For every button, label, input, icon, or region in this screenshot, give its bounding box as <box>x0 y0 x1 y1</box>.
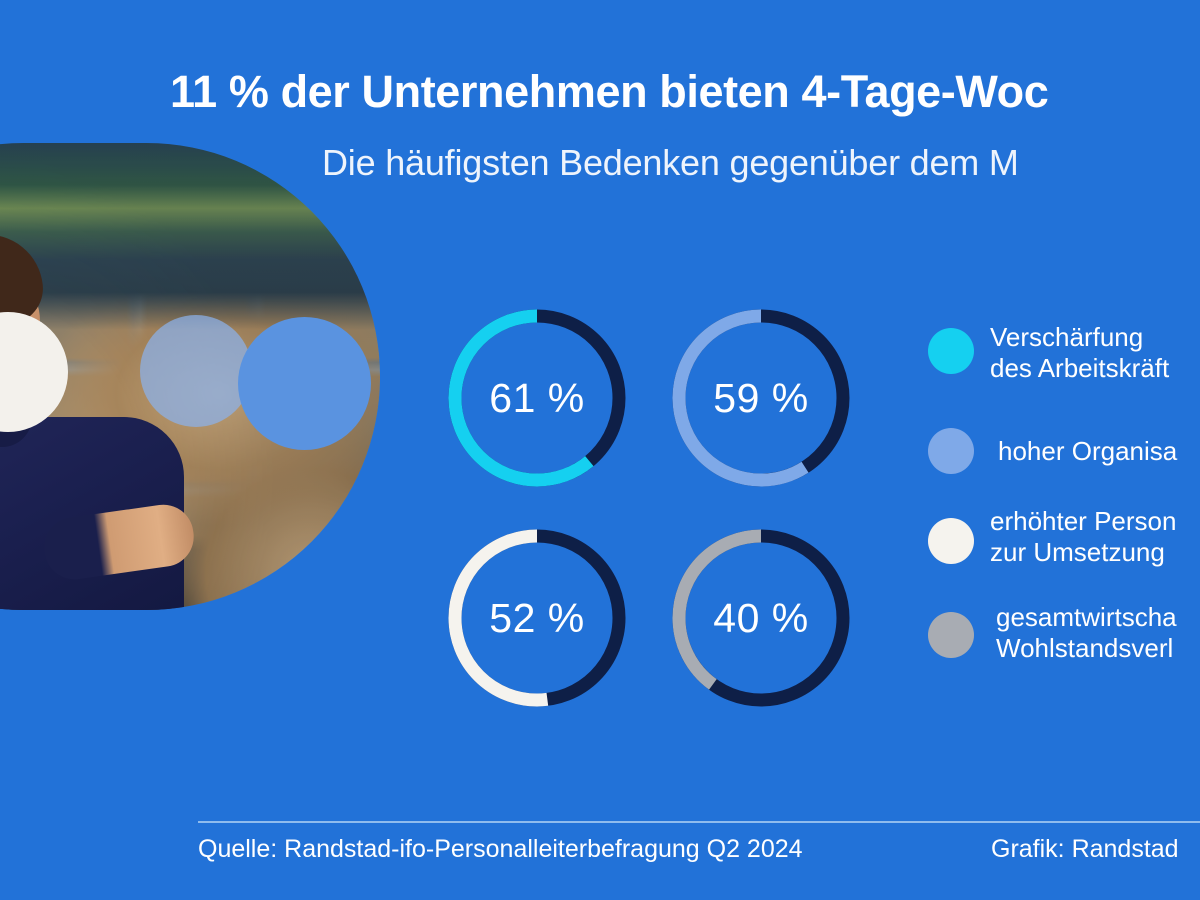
legend-color-dot-icon <box>928 328 974 374</box>
infographic-root: 11 % der Unternehmen bieten 4-Tage-Woc D… <box>0 0 1200 900</box>
footer: Quelle: Randstad-ifo-Personalleiterbefra… <box>198 835 1200 875</box>
donut-chart: 61 % <box>448 309 626 487</box>
legend-item: gesamtwirtscha Wohlstandsverl <box>928 602 1177 663</box>
donut-chart: 52 % <box>448 529 626 707</box>
donut-chart-grid: 61 % 59 % 52 % 40 % <box>440 300 860 740</box>
legend-item-label: Verschärfung des Arbeitskräft <box>990 322 1169 383</box>
legend-item: erhöhter Person zur Umsetzung <box>928 506 1176 567</box>
donut-chart: 40 % <box>672 529 850 707</box>
legend-item-label: hoher Organisa <box>990 426 1177 467</box>
legend-item-label: erhöhter Person zur Umsetzung <box>990 506 1176 567</box>
donut-value-label: 52 % <box>448 529 626 707</box>
footer-divider <box>198 821 1200 823</box>
donut-value-label: 40 % <box>672 529 850 707</box>
legend-color-dot-icon <box>928 428 974 474</box>
blue-circle-icon <box>238 317 371 450</box>
light-blue-circle-icon <box>140 315 252 427</box>
credit-text: Grafik: Randstad <box>991 835 1179 864</box>
legend-item: hoher Organisa <box>928 426 1177 474</box>
source-text: Quelle: Randstad-ifo-Personalleiterbefra… <box>198 835 803 864</box>
donut-value-label: 61 % <box>448 309 626 487</box>
donut-value-label: 59 % <box>672 309 850 487</box>
legend-color-dot-icon <box>928 518 974 564</box>
page-subtitle: Die häufigsten Bedenken gegenüber dem M <box>322 144 1019 182</box>
legend-item-label: gesamtwirtscha Wohlstandsverl <box>990 602 1177 663</box>
legend-item: Verschärfung des Arbeitskräft <box>928 322 1169 383</box>
page-title: 11 % der Unternehmen bieten 4-Tage-Woc <box>170 68 1048 115</box>
donut-chart: 59 % <box>672 309 850 487</box>
legend-color-dot-icon <box>928 612 974 658</box>
